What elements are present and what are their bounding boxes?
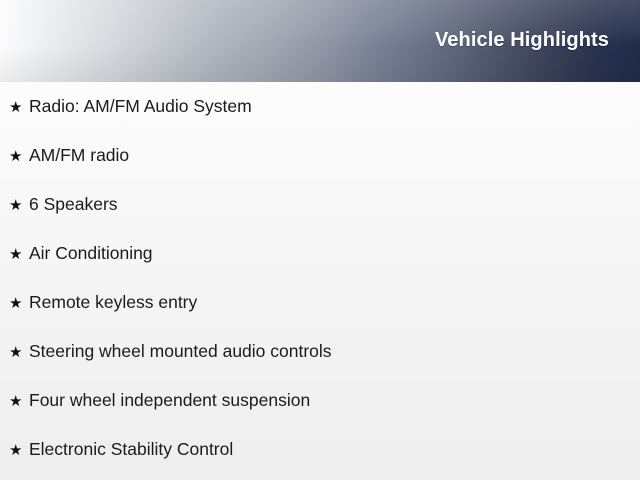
list-item: ★ Air Conditioning <box>0 243 640 292</box>
list-item: ★ Remote keyless entry <box>0 292 640 341</box>
page-title: Vehicle Highlights <box>435 28 609 52</box>
list-item-label: Air Conditioning <box>29 243 640 263</box>
star-icon: ★ <box>9 392 29 412</box>
list-item-label: Electronic Stability Control <box>29 439 640 459</box>
list-item-label: AM/FM radio <box>29 145 640 165</box>
list-item-label: Radio: AM/FM Audio System <box>29 96 640 116</box>
star-icon: ★ <box>9 294 29 314</box>
page-header-banner: Vehicle Highlights <box>0 0 640 82</box>
star-icon: ★ <box>9 245 29 265</box>
list-item: ★ Steering wheel mounted audio controls <box>0 341 640 390</box>
list-item-label: Steering wheel mounted audio controls <box>29 341 640 361</box>
list-item: ★ 6 Speakers <box>0 194 640 243</box>
list-item-label: 6 Speakers <box>29 194 640 214</box>
list-item: ★ Electronic Stability Control <box>0 439 640 480</box>
vehicle-highlights-list: ★ Radio: AM/FM Audio System ★ AM/FM radi… <box>0 82 640 480</box>
list-item-label: Four wheel independent suspension <box>29 390 640 410</box>
star-icon: ★ <box>9 98 29 118</box>
list-item-label: Remote keyless entry <box>29 292 640 312</box>
star-icon: ★ <box>9 441 29 461</box>
star-icon: ★ <box>9 147 29 167</box>
list-item: ★ Radio: AM/FM Audio System <box>0 82 640 145</box>
star-icon: ★ <box>9 196 29 216</box>
vehicle-highlights-page: Vehicle Highlights ★ Radio: AM/FM Audio … <box>0 0 640 480</box>
star-icon: ★ <box>9 343 29 363</box>
list-item: ★ AM/FM radio <box>0 145 640 194</box>
list-item: ★ Four wheel independent suspension <box>0 390 640 439</box>
